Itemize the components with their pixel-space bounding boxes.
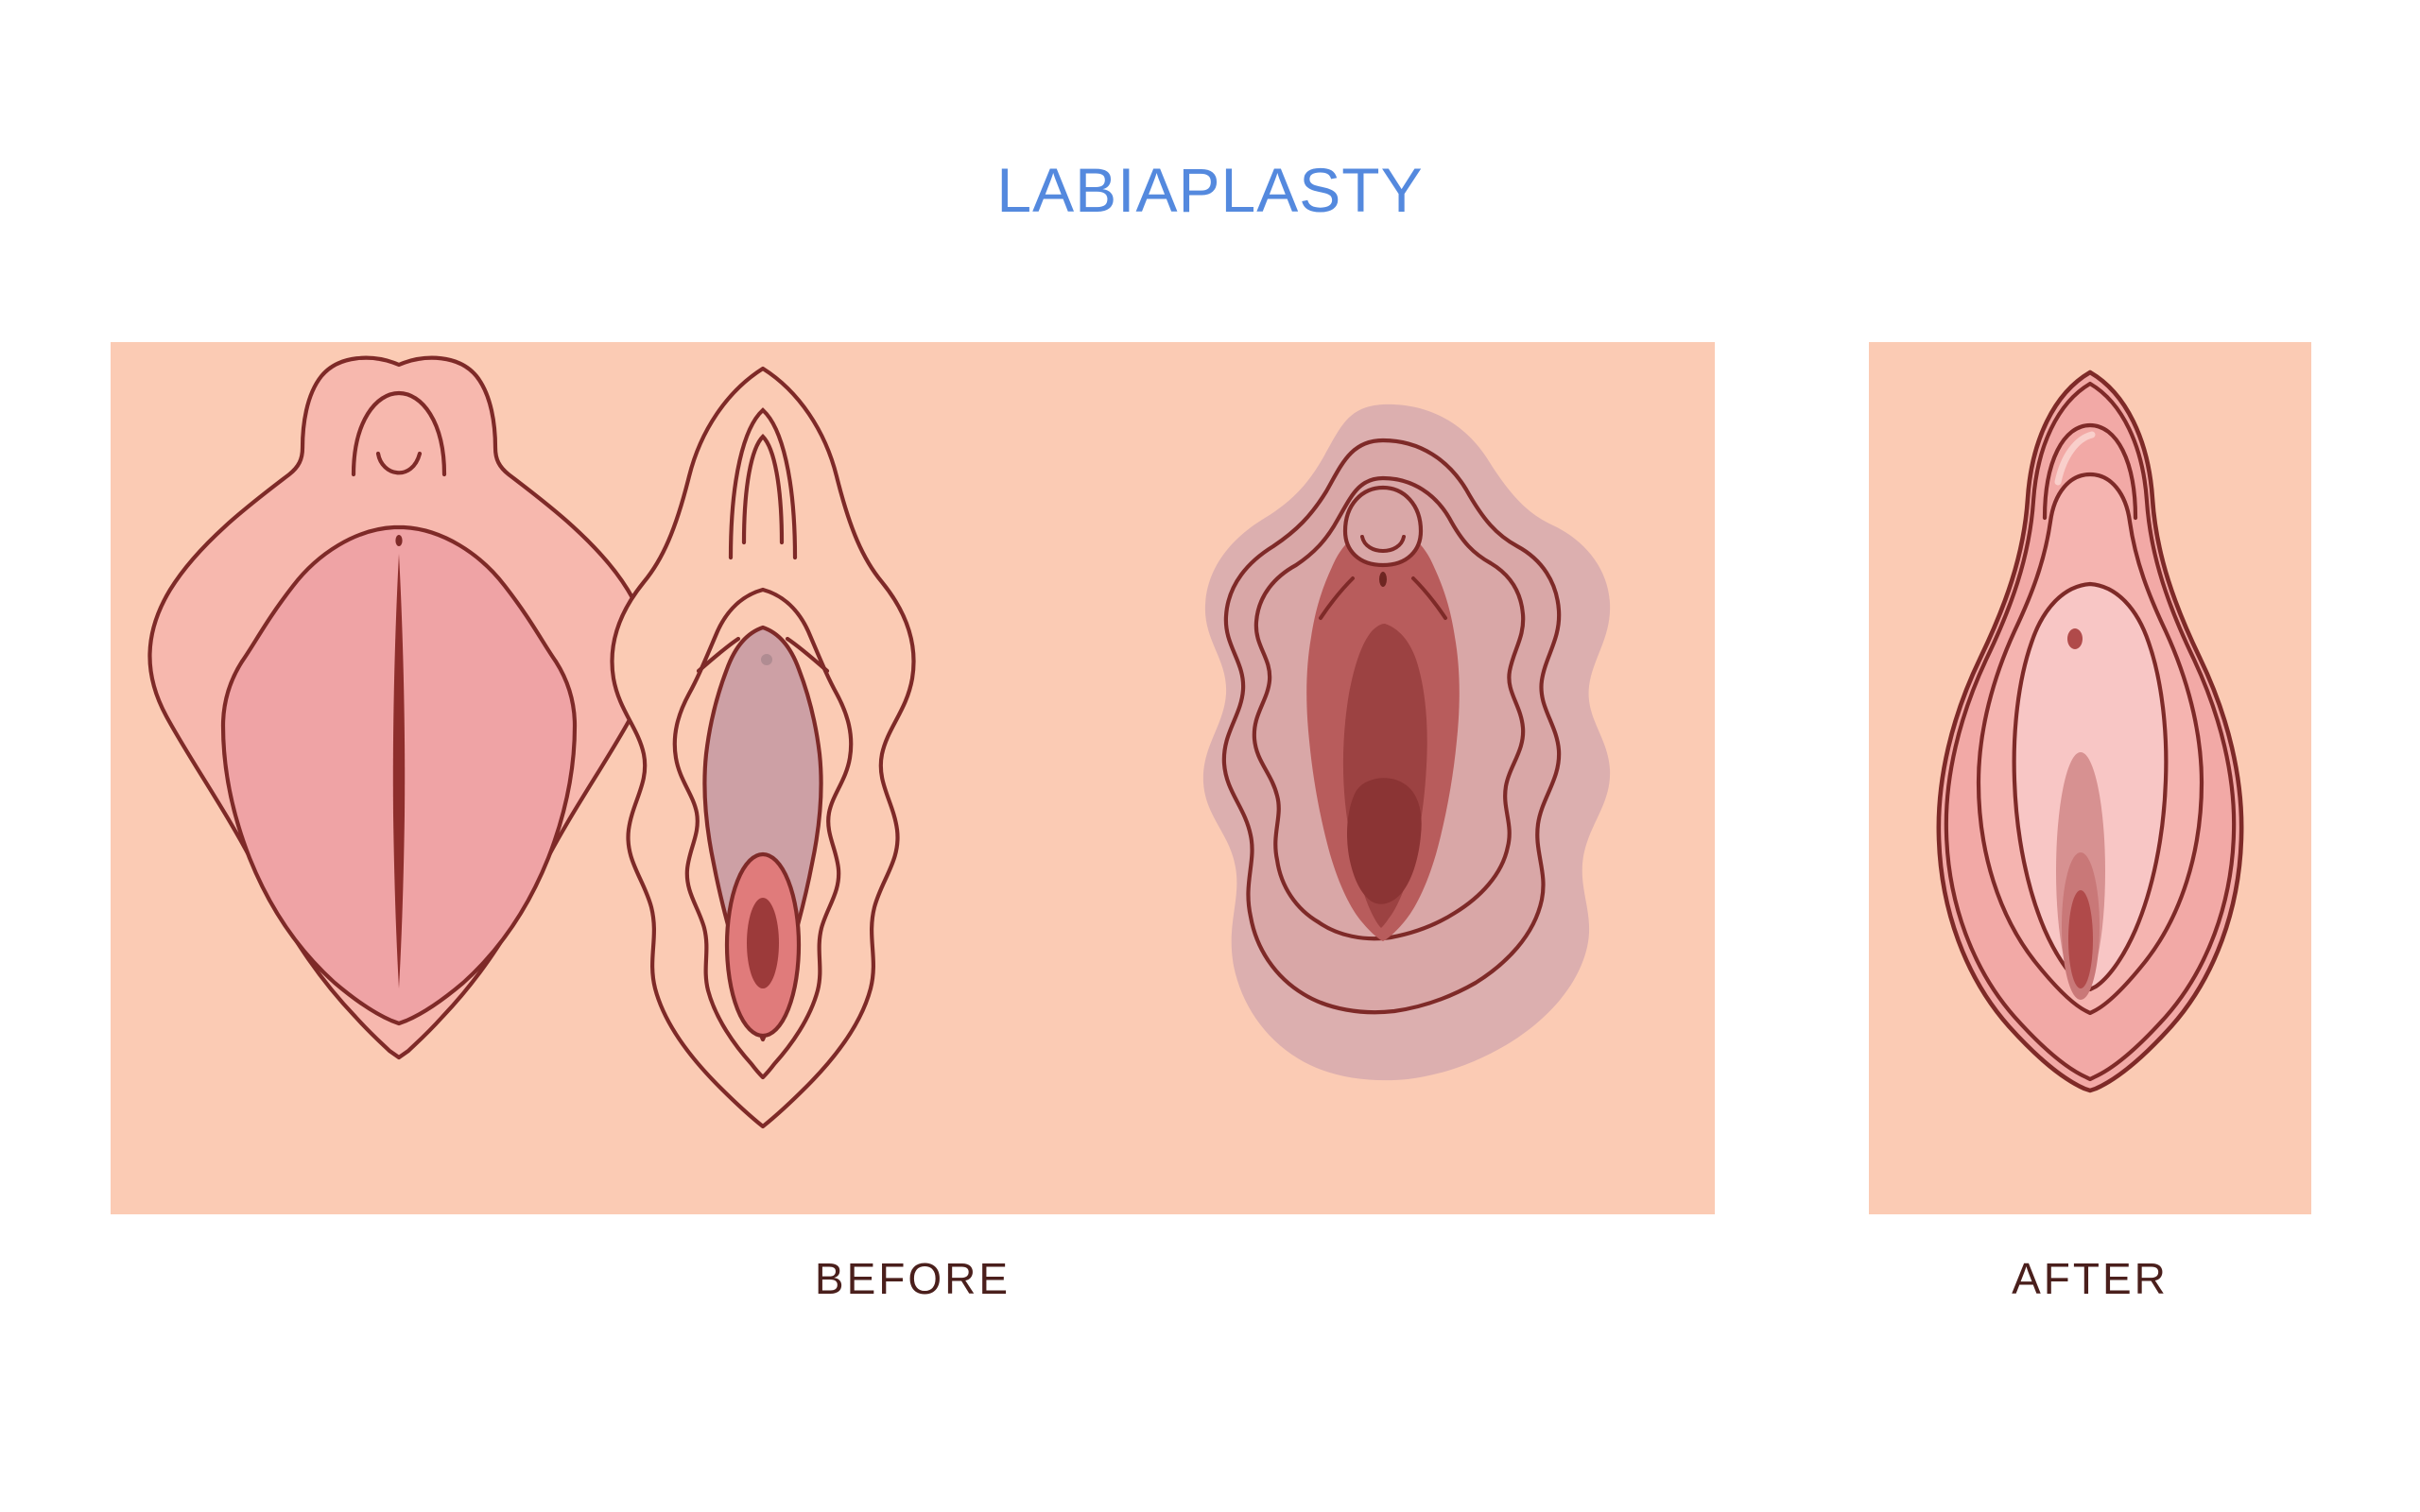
figure-enlarged-protruding-labia <box>149 358 648 1057</box>
figure-elongated-wavy-labia <box>612 369 913 1126</box>
vaginal-opening-core <box>2068 890 2093 988</box>
page-title: LABIAPLASTY <box>0 159 2420 221</box>
urethral-opening-dot <box>395 535 402 546</box>
figure-corrected-teardrop-labia <box>1939 372 2241 1091</box>
urethral-opening-dot <box>761 654 772 665</box>
after-panel <box>1869 342 2311 1214</box>
vaginal-opening-core <box>747 898 779 988</box>
after-panel-illustration <box>1869 342 2311 1214</box>
figure-swollen-inflamed-labia <box>1203 404 1610 1080</box>
before-panel-illustrations <box>111 342 1715 1214</box>
before-caption: BEFORE <box>111 1257 1715 1300</box>
illustration-canvas: LABIAPLASTY <box>0 0 2420 1512</box>
urethral-opening-dot <box>2067 628 2083 649</box>
after-caption: AFTER <box>1869 1257 2311 1300</box>
before-panel <box>111 342 1715 1214</box>
clitoral-hood-circle <box>1345 488 1421 565</box>
urethral-opening-dot <box>1379 572 1387 587</box>
